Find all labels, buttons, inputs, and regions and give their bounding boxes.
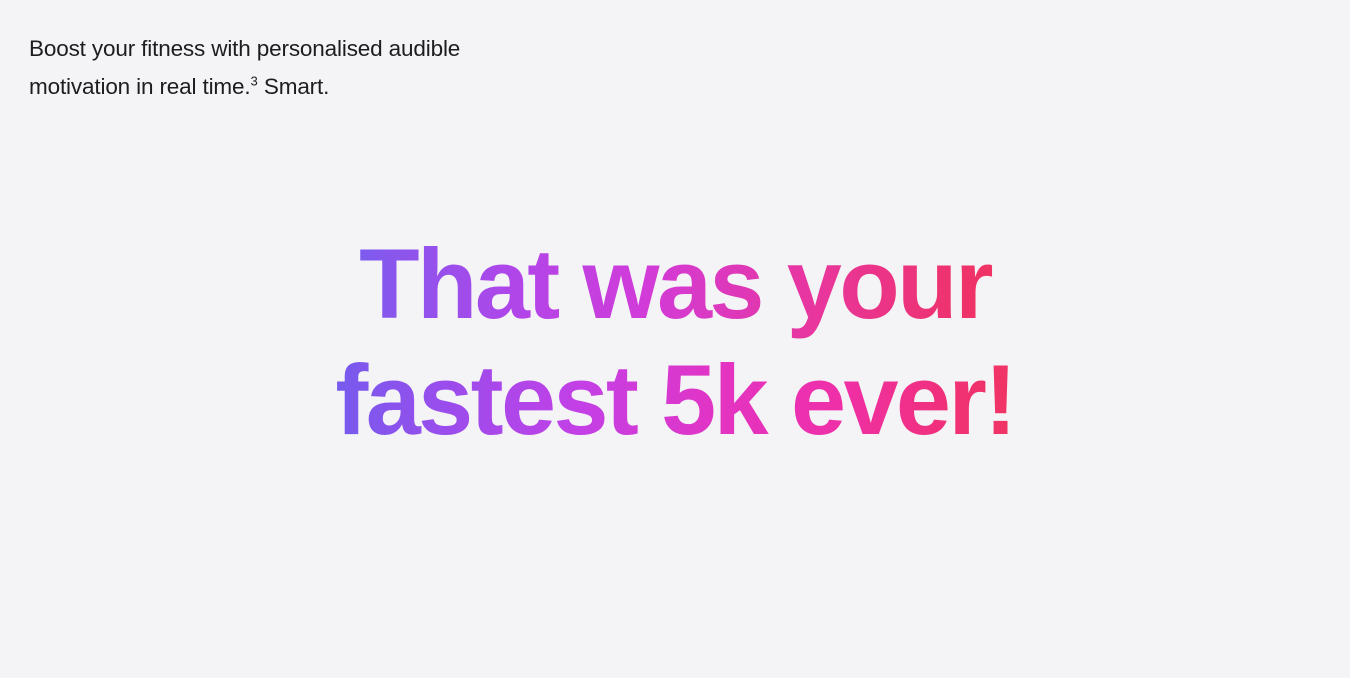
- headline-line-2: fastest 5k ever!: [0, 342, 1350, 458]
- intro-line-2-tail: Smart.: [258, 74, 329, 99]
- footnote-marker: 3: [251, 74, 258, 89]
- intro-line-2-text: motivation in real time.: [29, 74, 251, 99]
- intro-line-1: Boost your fitness with personalised aud…: [29, 36, 460, 61]
- promo-panel: Boost your fitness with personalised aud…: [0, 0, 1350, 678]
- intro-paragraph: Boost your fitness with personalised aud…: [29, 30, 669, 106]
- page-title: That was your fastest 5k ever!: [0, 226, 1350, 458]
- headline-line-1: That was your: [0, 226, 1350, 342]
